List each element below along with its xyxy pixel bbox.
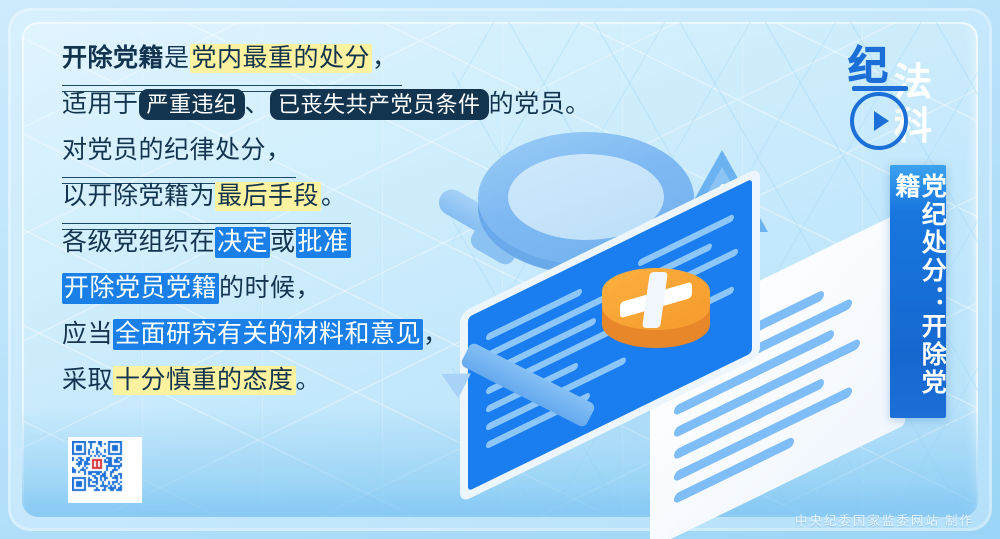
body-line-4: 以开除党籍为最后手段。 [62, 182, 622, 228]
play-triangle-icon [874, 111, 889, 131]
text-plain: 以开除党籍为 [62, 183, 215, 210]
vertical-title-banner: 党纪处分：开除党籍 [890, 165, 946, 418]
text-plain: 各级党组织在 [62, 229, 215, 256]
footer-credit: 中央纪委国家监委网站 制作 [795, 510, 974, 529]
text-plain: 是 [164, 45, 190, 72]
text-plain: 适用于 [62, 91, 139, 118]
text-plain: 采取 [62, 367, 113, 394]
text-plain: 。 [296, 367, 322, 394]
vertical-title-text: 党纪处分：开除党籍 [892, 165, 945, 418]
logo-play-badge [850, 92, 908, 150]
logo-char-ji: 纪 [848, 46, 888, 86]
highlight-yellow: 党内最重的处分 [190, 44, 373, 73]
text-plain: 、 [245, 91, 271, 118]
text-plain: 的党员。 [489, 91, 591, 118]
highlight-yellow: 十分慎重的态度 [113, 366, 296, 395]
brand-logo: 纪 法 科 [848, 46, 952, 158]
highlight-blue: 全面研究有关的材料和意见 [113, 319, 423, 350]
text-plain: 对党员的纪律处分， [62, 137, 292, 164]
body-line-1: 开除党籍是党内最重的处分， [62, 44, 622, 90]
body-line-7: 应当全面研究有关的材料和意见， [62, 320, 622, 366]
text-plain: 。 [321, 183, 347, 210]
text-bold: 开除党籍 [62, 45, 164, 72]
body-line-6: 开除党员党籍的时候， [62, 274, 622, 320]
highlight-blue: 决定 [215, 227, 270, 258]
text-plain: ， [423, 321, 449, 348]
body-text-block: 开除党籍是党内最重的处分，适用于严重违纪、已丧失共产党员条件的党员。对党员的纪律… [62, 44, 622, 412]
keyword-pill: 严重违纪 [139, 89, 245, 120]
text-plain: 的时候， [219, 275, 321, 302]
highlight-blue: 开除党员党籍 [62, 273, 219, 304]
poster-canvas: 开除党籍是党内最重的处分，适用于严重违纪、已丧失共产党员条件的党员。对党员的纪律… [0, 0, 1000, 539]
body-line-8: 采取十分慎重的态度。 [62, 366, 622, 412]
body-line-2: 适用于严重违纪、已丧失共产党员条件的党员。 [62, 90, 622, 136]
qr-code[interactable] [68, 437, 142, 503]
text-plain: ， [372, 45, 398, 72]
text-plain: 或 [270, 229, 296, 256]
body-line-5: 各级党组织在决定或批准 [62, 228, 622, 274]
highlight-yellow: 最后手段 [215, 182, 321, 211]
highlight-blue: 批准 [296, 227, 351, 258]
keyword-pill: 已丧失共产党员条件 [270, 89, 489, 120]
logo-char-fa: 法 [894, 64, 932, 102]
text-plain: 应当 [62, 321, 113, 348]
body-line-3: 对党员的纪律处分， [62, 136, 622, 182]
